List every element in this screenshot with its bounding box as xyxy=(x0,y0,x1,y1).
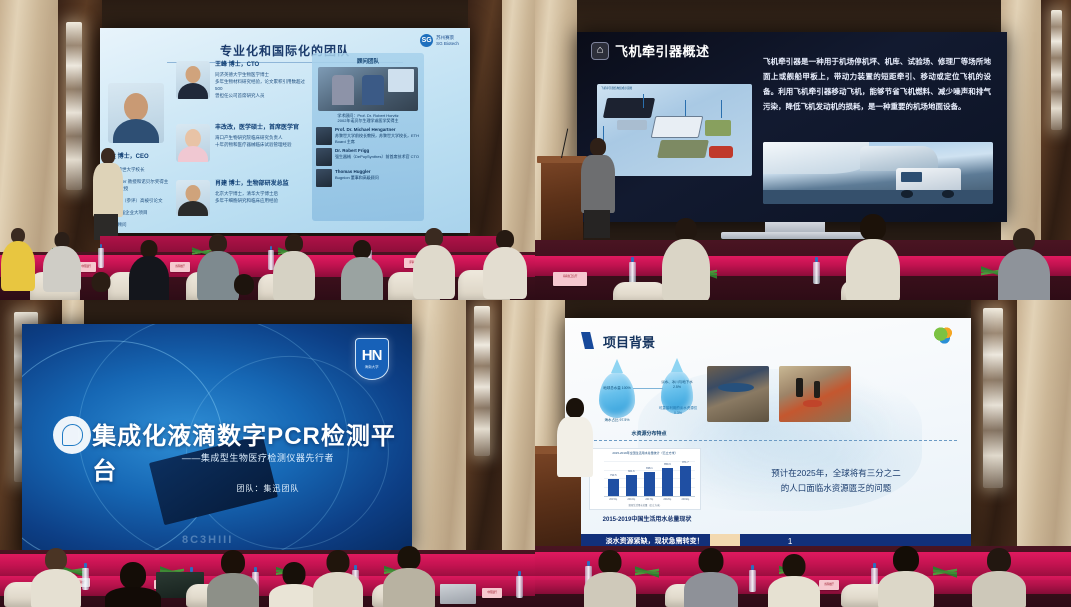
footer-text: 淡水资源紧缺，现状急需转变！ xyxy=(606,536,704,546)
wall-sconce xyxy=(66,22,82,190)
name-card: 省科技厅 xyxy=(819,580,839,590)
logo-subtext: 海南大学 xyxy=(365,365,379,370)
photo-collage: 专业化和国际化的团队 SG 苏州赛景 SG Biotech xyxy=(0,0,1071,607)
section-label: 水资源分布特点 xyxy=(609,430,689,437)
audience-member xyxy=(340,240,384,300)
member-bullet-2: 曾担任公司首席研究人员 xyxy=(215,93,306,100)
audience-member xyxy=(78,272,124,300)
panel-top-left: 专业化和国际化的团队 SG 苏州赛景 SG Biotech xyxy=(0,0,535,300)
body xyxy=(273,251,315,300)
water-bottle xyxy=(749,570,756,592)
member-bullet-0: 同济英德大学生物医学博士 xyxy=(215,72,306,79)
body xyxy=(129,256,169,300)
airport-tug-photo xyxy=(763,142,993,204)
body xyxy=(998,249,1050,300)
university-logo: HN 海南大学 xyxy=(355,338,389,380)
table-plant xyxy=(933,556,957,588)
member-bullet-1: 十年药物和医疗器械临床试验管理经验 xyxy=(215,142,299,149)
body xyxy=(662,239,710,300)
head xyxy=(120,562,146,589)
member-bullet-1: 多年干细胞研究和临床应用经验 xyxy=(215,198,289,205)
body xyxy=(207,573,259,607)
team-line: 团队：集迅团队 xyxy=(237,483,300,494)
name-card-text: 省科技厅 xyxy=(170,264,190,268)
body xyxy=(972,571,1026,607)
home-icon: ⌂ xyxy=(591,42,609,60)
water-bottle xyxy=(629,262,636,284)
bar-value: 859.9 xyxy=(662,463,673,466)
bar: 859.9 xyxy=(662,468,673,496)
audience-member xyxy=(220,274,268,300)
slide-subtitle: ——集成型生物医疗检测仪器先行者 xyxy=(182,451,334,464)
head xyxy=(92,272,111,292)
logo-text: 苏州赛景 SG Biotech xyxy=(436,35,459,46)
advisor-note: Bugnion 董事和高级顾问 xyxy=(335,175,379,181)
advisor-thumb xyxy=(316,148,332,166)
avatar-head xyxy=(124,93,148,121)
avatar-head xyxy=(186,66,201,83)
member-name: 肖建 博士，生物部研发总监 xyxy=(215,180,289,189)
body xyxy=(105,587,161,607)
presenter xyxy=(555,398,595,506)
diagram-caption: 飞机牵引器结构组成示意图 xyxy=(601,86,632,90)
head xyxy=(599,550,622,574)
presenter-head xyxy=(101,148,115,164)
body xyxy=(341,257,383,300)
quote-line-2: 的人口面临水资源匮乏的问题 xyxy=(715,481,957,496)
presenter-body xyxy=(557,417,593,477)
head xyxy=(327,550,350,574)
bar-value: 838.1 xyxy=(644,467,655,470)
slide-body-text: 飞机牵引器是一种用于机场停机坪、机库、试验场、修理厂等场所地面上或舰船甲板上，带… xyxy=(763,54,991,114)
body xyxy=(584,572,636,607)
presenter-body xyxy=(93,163,123,217)
title-chevron-icon xyxy=(581,332,594,349)
audience-member xyxy=(482,230,528,298)
team-member-2: 肖建 博士，生物部研发总监 北京大学博士，清华大学博士后 多年干细胞研究和临床应… xyxy=(176,180,306,216)
led-wall: ⌂ 飞机牵引器概述 飞机牵引器是一种用于机场停机坪、机库、试验场、修理厂等场所地… xyxy=(577,32,1007,222)
name-card: 中国银行 xyxy=(482,588,502,598)
projection-screen: 项目背景 地球总水量 100% 海水占比 97.5% 淡水、冰川与地下水 2.5… xyxy=(565,318,971,548)
body xyxy=(413,245,455,299)
logo-line2: SG Biotech xyxy=(436,41,459,47)
body xyxy=(31,569,81,607)
avatar xyxy=(108,83,164,143)
audience-member xyxy=(272,234,316,300)
audience-member xyxy=(583,550,637,607)
laptop xyxy=(440,584,476,604)
audience-member xyxy=(997,228,1051,300)
advisor-photo xyxy=(318,67,418,111)
x-tick-label: 2016年 xyxy=(622,497,640,501)
bar: 838.1 xyxy=(644,472,655,496)
avatar-body xyxy=(178,146,208,162)
audience-member xyxy=(382,546,436,607)
water-bottle xyxy=(516,576,523,598)
slide-team: 专业化和国际化的团队 SG 苏州赛景 SG Biotech xyxy=(100,28,470,233)
droplet-right-note: 可直接利用的淡水资源仅 0.3% xyxy=(655,406,701,415)
droplet-left-label: 地球总水量 100% xyxy=(599,386,635,391)
avatar xyxy=(176,124,210,162)
audience-member xyxy=(412,228,456,298)
audience-member xyxy=(877,546,935,607)
presenter-head xyxy=(566,398,584,418)
body xyxy=(768,576,820,607)
x-tick-label: 2017年 xyxy=(640,497,658,501)
bar-value: 793.5 xyxy=(608,474,619,477)
member-info: 丰改改，医学硕士，首席医学官 海口产生物研究院临床研究负责人 十年药物和医疗器械… xyxy=(215,124,299,162)
bar: 793.5 xyxy=(608,479,619,495)
slide-quote: 预计在2025年，全球将有三分之二 的人口面临水资源匮乏的问题 xyxy=(715,466,957,497)
water-usage-chart: 2015-2019年全国生活用水总量统计（亿立方米） 793.5 8 xyxy=(589,448,701,510)
body xyxy=(878,571,934,607)
advisor-note: 强生器械（DePuySynthes）前首席技术官 CTO xyxy=(335,154,419,160)
advisor-item: Prof. Dr. Michael Hengartner 苏黎世大学前校长教授，… xyxy=(316,127,420,145)
advisor-info: Prof. Dr. Michael Hengartner 苏黎世大学前校长教授，… xyxy=(335,127,420,144)
team-member-1: 丰改改，医学硕士，首席医学官 海口产生物研究院临床研究负责人 十年药物和医疗器械… xyxy=(176,124,306,162)
audience-member xyxy=(971,548,1027,607)
slide-pcr-title: 集成化液滴数字PCR检测平台 ——集成型生物医疗检测仪器先行者 团队：集迅团队 … xyxy=(22,324,412,554)
head xyxy=(783,554,806,578)
body xyxy=(313,572,363,607)
wall-sconce xyxy=(983,308,1003,488)
projection-screen: 集成化液滴数字PCR检测平台 ——集成型生物医疗检测仪器先行者 团队：集迅团队 … xyxy=(22,324,412,554)
avatar-body xyxy=(113,119,159,143)
audience-member xyxy=(128,240,170,300)
avatar-body xyxy=(178,83,208,99)
advisor-lead-note: 2002年诺贝尔生理学或医学奖得主 xyxy=(316,118,420,124)
avatar-body xyxy=(178,201,208,216)
droplet-left-note: 海水占比 97.5% xyxy=(595,418,639,423)
body xyxy=(846,239,900,300)
audience-member xyxy=(661,218,711,300)
slide-header: ⌂ 飞机牵引器概述 xyxy=(591,41,710,60)
member-bullet-1: 多年生物材料研究经验，论文累积引用数超过500 xyxy=(215,79,306,93)
logo-badge: SG xyxy=(420,34,433,47)
slide-aircraft-tractor: ⌂ 飞机牵引器概述 飞机牵引器是一种用于机场停机坪、机库、试验场、修理厂等场所地… xyxy=(577,32,1007,222)
tractor-diagram: 飞机牵引器结构组成示意图 xyxy=(597,84,752,176)
advisor-note: 苏黎世大学前校长教授，苏黎世大学校长，ETH Board 主席 xyxy=(335,133,420,144)
member-info: 肖建 博士，生物部研发总监 北京大学博士，清华大学博士后 多年干细胞研究和临床应… xyxy=(215,180,289,216)
table-plant xyxy=(635,556,659,588)
advisor-panel: 顾问团队 学术顾问：Prof. Dr. Robert Horvitz 2002年… xyxy=(312,53,424,221)
bar: 821.6 xyxy=(626,475,637,496)
droplet-right-label: 淡水、冰川与地下水 2.5% xyxy=(661,380,693,389)
head xyxy=(398,546,421,570)
podium xyxy=(541,160,583,246)
advisor-info: Dr. Robert Frigg 强生器械（DePuySynthes）前首席技术… xyxy=(335,148,419,160)
audience-member xyxy=(0,228,36,290)
avatar xyxy=(176,180,210,216)
footer-page-number: 1 xyxy=(788,537,792,546)
organization-logo xyxy=(933,326,955,344)
speaker-body xyxy=(581,155,615,213)
audience-member xyxy=(104,562,162,607)
people-digging-for-water-photo xyxy=(779,366,851,422)
name-card-text: 中国银行 xyxy=(482,590,502,594)
chart-caption: 2015-2019中国生活用水总量现状 xyxy=(579,514,715,523)
member-info: 王峰 博士，CTO 同济英德大学生物医学博士 多年生物材料研究经验，论文累积引用… xyxy=(215,61,306,100)
member-name: 王峰 博士，CTO xyxy=(215,61,306,70)
wall-sconce xyxy=(1051,10,1062,130)
quote-line-1: 预计在2025年，全球将有三分之二 xyxy=(715,466,957,481)
head xyxy=(234,274,254,295)
panel-bottom-right: 项目背景 地球总水量 100% 海水占比 97.5% 淡水、冰川与地下水 2.5… xyxy=(535,300,1071,607)
presenter xyxy=(88,148,128,238)
water-bottle xyxy=(813,262,820,284)
body xyxy=(1,241,35,291)
logo-letters: HN xyxy=(362,348,382,363)
head xyxy=(45,548,67,571)
head xyxy=(221,550,245,575)
slide-project-background: 项目背景 地球总水量 100% 海水占比 97.5% 淡水、冰川与地下水 2.5… xyxy=(565,318,971,548)
x-tick-label: 2019年 xyxy=(676,497,694,501)
audience-member xyxy=(767,554,821,607)
chart-legend: 全国生活用水总量（亿立方米） xyxy=(590,503,700,507)
audience-member xyxy=(42,232,82,290)
avatar xyxy=(176,61,210,99)
chair xyxy=(613,282,667,300)
panel-bottom-left: 集成化液滴数字PCR检测平台 ——集成型生物医疗检测仪器先行者 团队：集迅团队 … xyxy=(0,300,535,607)
bar-value: 871.7 xyxy=(680,461,691,464)
advisor-info: Thomas Huggler Bugnion 董事和高级顾问 xyxy=(335,169,379,181)
name-card-text: 省科技厅 xyxy=(819,582,839,586)
audience-member xyxy=(312,550,364,607)
name-card: 海南省工信厅 xyxy=(553,272,587,286)
speaker-head xyxy=(590,138,606,156)
body xyxy=(383,568,435,607)
head xyxy=(1013,228,1035,251)
x-tick-label: 2018年 xyxy=(658,497,676,501)
head xyxy=(675,218,697,241)
wall-sconce xyxy=(474,306,490,456)
avatar-head xyxy=(186,185,201,202)
speaker xyxy=(579,138,617,238)
head xyxy=(860,214,886,241)
advisor-name: Thomas Huggler xyxy=(335,169,371,174)
advisor-name: Dr. Robert Frigg xyxy=(335,148,369,153)
water-bottle xyxy=(98,248,104,268)
water-droplet-total xyxy=(599,372,635,418)
audience-member xyxy=(30,548,82,606)
screen-code-text: 8C3HIII xyxy=(182,534,233,546)
audience-member xyxy=(206,550,260,607)
slide-title: 飞机牵引器概述 xyxy=(615,41,710,60)
advisor-item: Thomas Huggler Bugnion 董事和高级顾问 xyxy=(316,169,420,187)
advisor-heading: 顾问团队 xyxy=(316,55,420,65)
chart-title: 2015-2019年全国生活用水总量统计（亿立方米） xyxy=(590,449,700,455)
bar: 871.7 xyxy=(680,466,691,496)
advisor-thumb xyxy=(316,127,332,145)
bar-value: 821.6 xyxy=(626,470,637,473)
body xyxy=(43,246,81,292)
projection-screen: 专业化和国际化的团队 SG 苏州赛景 SG Biotech xyxy=(100,28,470,233)
body xyxy=(483,247,527,299)
head xyxy=(987,548,1011,573)
avatar-head xyxy=(185,129,201,148)
head xyxy=(283,562,306,586)
panel-top-right: ⌂ 飞机牵引器概述 飞机牵引器是一种用于机场停机坪、机库、试验场、修理厂等场所地… xyxy=(535,0,1071,300)
team-member-0: 王峰 博士，CTO 同济英德大学生物医学博士 多年生物材料研究经验，论文累积引用… xyxy=(176,61,306,100)
advisor-thumb xyxy=(316,169,332,187)
company-logo: SG 苏州赛景 SG Biotech xyxy=(420,34,459,47)
droplet-cluster-icon xyxy=(53,416,91,454)
audience-member xyxy=(683,548,739,607)
name-card: 省科技厅 xyxy=(170,262,190,272)
advisor-name: Prof. Dr. Michael Hengartner xyxy=(335,127,396,132)
advisor-item: Dr. Robert Frigg 强生器械（DePuySynthes）前首席技术… xyxy=(316,148,420,166)
head xyxy=(893,546,919,573)
cracked-dry-lakebed-photo xyxy=(707,366,769,422)
water-bottle xyxy=(82,568,89,590)
chart-plot-area: 793.5 821.6 838.1 859.9 xyxy=(604,461,694,496)
member-bullet-0: 北京大学博士，清华大学博士后 xyxy=(215,191,289,198)
member-name: 丰改改，医学硕士，首席医学官 xyxy=(215,124,299,133)
body xyxy=(684,572,738,607)
name-card-text: 海南省工信厅 xyxy=(553,274,587,278)
x-tick-label: 2015年 xyxy=(604,497,622,501)
audience-member xyxy=(845,214,901,300)
section-divider xyxy=(579,440,957,441)
slide-title: 项目背景 xyxy=(603,332,655,351)
head xyxy=(699,548,724,574)
